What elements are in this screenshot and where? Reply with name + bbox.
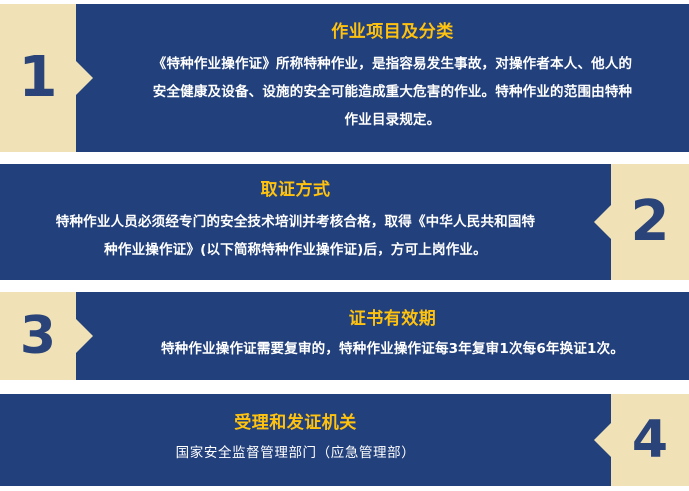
step-number-plate-3: 3 — [0, 292, 76, 380]
arrow-left-icon — [594, 205, 611, 239]
step-number-plate-2: 2 — [611, 164, 689, 280]
step-number-1: 1 — [19, 50, 58, 106]
step-row-2: 2 取证方式 特种作业人员必须经专门的安全技术培训并考核合格，取得《中华人民共和… — [0, 164, 689, 280]
step-title-1: 作业项目及分类 — [110, 22, 675, 43]
step-body-1-line-1: 《特种作业操作证》所称特种作业，是指容易发生事故，对操作者本人、他人的 — [110, 50, 675, 78]
step-panel-2: 取证方式 特种作业人员必须经专门的安全技术培训并考核合格，取得《中华人民共和国特… — [0, 164, 611, 280]
step-panel-1: 作业项目及分类 《特种作业操作证》所称特种作业，是指容易发生事故，对操作者本人、… — [76, 4, 689, 152]
arrow-right-icon — [76, 319, 93, 353]
step-body-1-line-2: 安全健康及设备、设施的安全可能造成重大危害的作业。特种作业的范围由特种 — [110, 78, 675, 106]
step-row-4: 4 受理和发证机关 国家安全监督管理部门（应急管理部） — [0, 394, 689, 486]
step-panel-3: 证书有效期 特种作业操作证需要复审的，特种作业操作证每3年复审1次每6年换证1次… — [76, 292, 689, 380]
step-number-3: 3 — [20, 310, 56, 362]
step-number-plate-4: 4 — [611, 394, 689, 486]
step-row-1: 1 作业项目及分类 《特种作业操作证》所称特种作业，是指容易发生事故，对操作者本… — [0, 4, 689, 152]
arrow-right-icon — [76, 61, 93, 95]
step-body-2-line-1: 特种作业人员必须经专门的安全技术培训并考核合格，取得《中华人民共和国特 — [14, 208, 577, 236]
arrow-left-icon — [594, 423, 611, 457]
step-title-2: 取证方式 — [14, 180, 577, 201]
step-body-4-line-1: 国家安全监督管理部门（应急管理部） — [14, 439, 577, 467]
step-title-3: 证书有效期 — [110, 309, 675, 330]
step-number-2: 2 — [631, 194, 670, 250]
step-body-2-line-2: 种作业操作证》(以下简称特种作业操作证)后，方可上岗作业。 — [14, 236, 577, 264]
infographic-container: 1 作业项目及分类 《特种作业操作证》所称特种作业，是指容易发生事故，对操作者本… — [0, 0, 689, 491]
step-number-4: 4 — [632, 414, 668, 466]
step-body-1-line-3: 作业目录规定。 — [110, 106, 675, 134]
step-title-4: 受理和发证机关 — [14, 413, 577, 434]
step-panel-4: 受理和发证机关 国家安全监督管理部门（应急管理部） — [0, 394, 611, 486]
step-row-3: 3 证书有效期 特种作业操作证需要复审的，特种作业操作证每3年复审1次每6年换证… — [0, 292, 689, 380]
step-body-3-line-1: 特种作业操作证需要复审的，特种作业操作证每3年复审1次每6年换证1次。 — [110, 335, 675, 363]
step-number-plate-1: 1 — [0, 4, 76, 152]
